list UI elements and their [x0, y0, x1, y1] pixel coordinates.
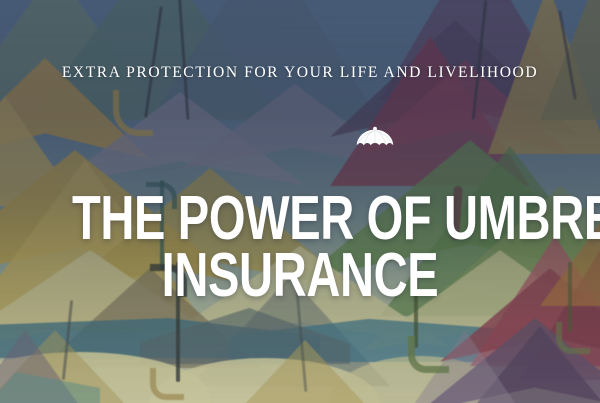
page-title-line-1: THE POWER OF UMBRELLA — [72, 190, 528, 247]
page-title: THE POWER OF UMBRELLA INSURANCE — [0, 190, 600, 304]
banner-subtitle: EXTRA PROTECTION FOR YOUR LIFE AND LIVEL… — [0, 64, 600, 81]
page-title-line-2: INSURANCE — [72, 247, 528, 304]
umbrella-icon — [356, 126, 394, 152]
banner-content: EXTRA PROTECTION FOR YOUR LIFE AND LIVEL… — [0, 0, 600, 403]
umbrella-insurance-hero-banner: EXTRA PROTECTION FOR YOUR LIFE AND LIVEL… — [0, 0, 600, 403]
